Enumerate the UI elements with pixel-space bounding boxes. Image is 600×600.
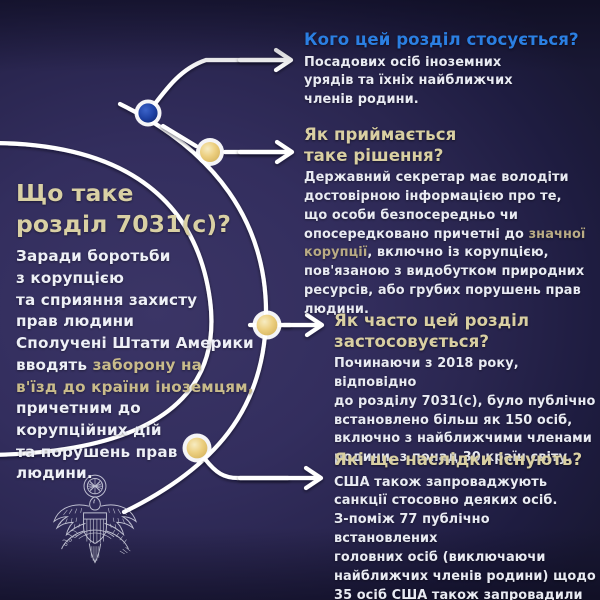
section-3-heading: Як часто цей розділзастосовується? xyxy=(334,311,596,352)
section-4-heading: Які ще наслідки існують? xyxy=(334,450,596,471)
section-other-consequences: Які ще наслідки існують? США також запро… xyxy=(334,450,596,600)
hero-title-line-1: Що таке xyxy=(16,179,134,207)
page-title: Що таке розділ 7031(c)? xyxy=(16,178,254,239)
section-1-heading: Кого цей розділ стосується? xyxy=(304,30,589,51)
infographic-canvas: Що таке розділ 7031(c)? Заради боротьбиз… xyxy=(0,0,600,600)
node-1-blue[interactable] xyxy=(138,103,157,122)
hero-body: Заради боротьбиз корупцієюта сприяння за… xyxy=(16,246,254,485)
hero-body-before: Заради боротьбиз корупцієюта сприяння за… xyxy=(16,247,254,374)
section-2-heading: Як приймаєтьсятаке рішення? xyxy=(304,125,596,166)
section-who-it-applies-to: Кого цей розділ стосується? Посадових ос… xyxy=(304,30,589,110)
hero-block: Що таке розділ 7031(c)? Заради боротьбиз… xyxy=(16,178,254,485)
hero-title-line-2: розділ 7031(c)? xyxy=(16,210,231,238)
hero-body-after: причетним докорупційних дійта порушень п… xyxy=(16,399,177,482)
branch-1 xyxy=(148,60,282,113)
node-2-gold[interactable] xyxy=(200,142,220,162)
section-how-often-applied: Як часто цей розділзастосовується? Почин… xyxy=(334,311,596,468)
section-how-decision-made: Як приймаєтьсятаке рішення? Державний се… xyxy=(304,125,596,320)
node-3-gold[interactable] xyxy=(257,315,278,336)
section-2-body: Державний секретар має володітидостовірн… xyxy=(304,169,596,320)
section-4-body: США також запроваджуютьсанкції стосовно … xyxy=(334,474,596,600)
section-1-body: Посадових осіб іноземнихурядів та їхніх … xyxy=(304,54,589,110)
